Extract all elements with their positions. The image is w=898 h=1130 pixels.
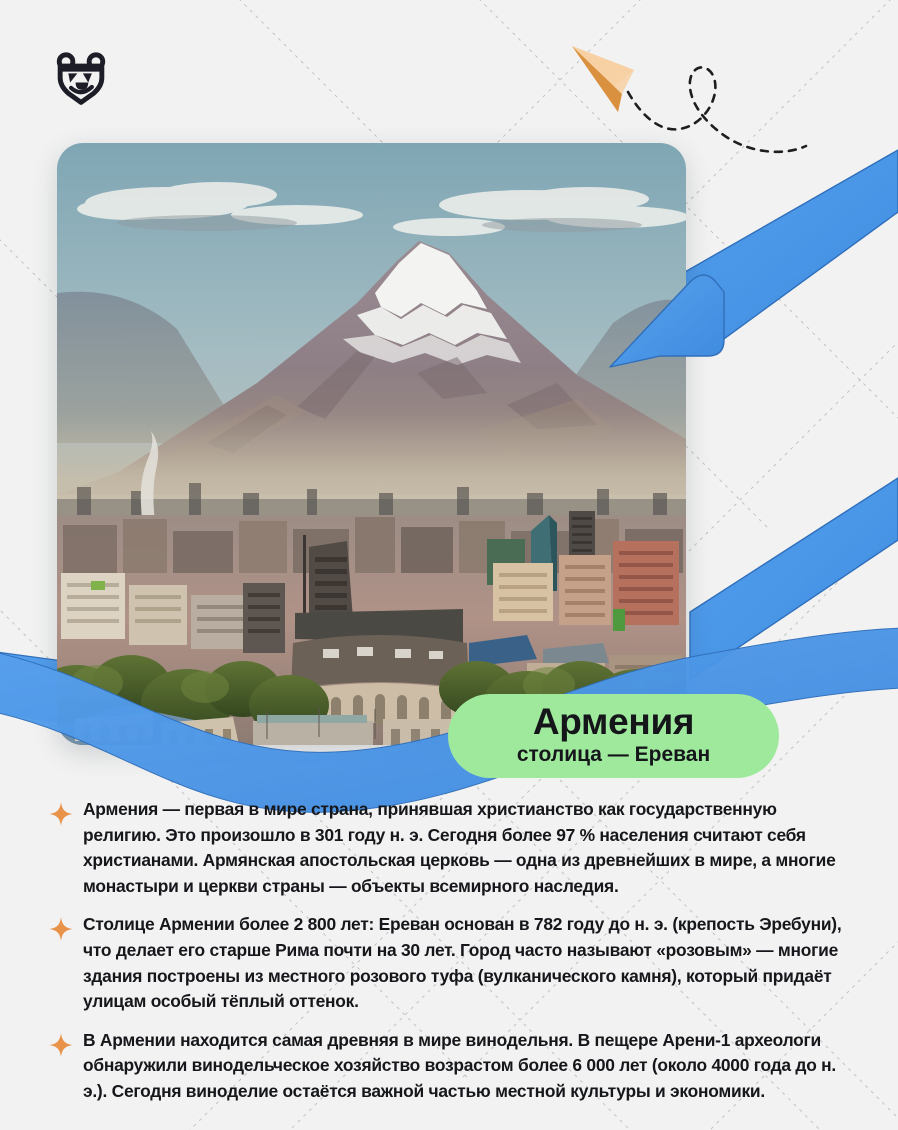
yerevan-photo-card xyxy=(57,143,686,745)
country-name-badge: Армения столица — Ереван xyxy=(448,694,779,778)
fact-text: Столице Армении более 2 800 лет: Ереван … xyxy=(83,912,858,1014)
paper-plane-icon xyxy=(572,46,634,112)
fact-text: В Армении находится самая древняя в мире… xyxy=(83,1028,858,1105)
fact-item-capital-age: Столице Армении более 2 800 лет: Ереван … xyxy=(48,912,860,1014)
fact-item-religion: Армения — первая в мире страна, принявша… xyxy=(48,797,860,899)
yerevan-mount-ararat-photo xyxy=(57,143,686,745)
bear-head-logo-icon xyxy=(52,48,110,106)
dashed-flight-path-icon xyxy=(628,67,806,151)
fact-text: Армения — первая в мире страна, принявша… xyxy=(83,797,858,899)
country-title: Армения xyxy=(533,703,694,741)
sparkle-bullet-icon xyxy=(48,916,74,942)
sparkle-bullet-icon xyxy=(48,1032,74,1058)
facts-list: Армения — первая в мире страна, принявша… xyxy=(48,797,860,1105)
country-capital-subtitle: столица — Ереван xyxy=(517,742,710,767)
fact-item-winery: В Армении находится самая древняя в мире… xyxy=(48,1028,860,1105)
paper-plane-decoration xyxy=(556,34,856,174)
blue-ribbon-icon xyxy=(690,478,898,680)
sparkle-bullet-icon xyxy=(48,801,74,827)
